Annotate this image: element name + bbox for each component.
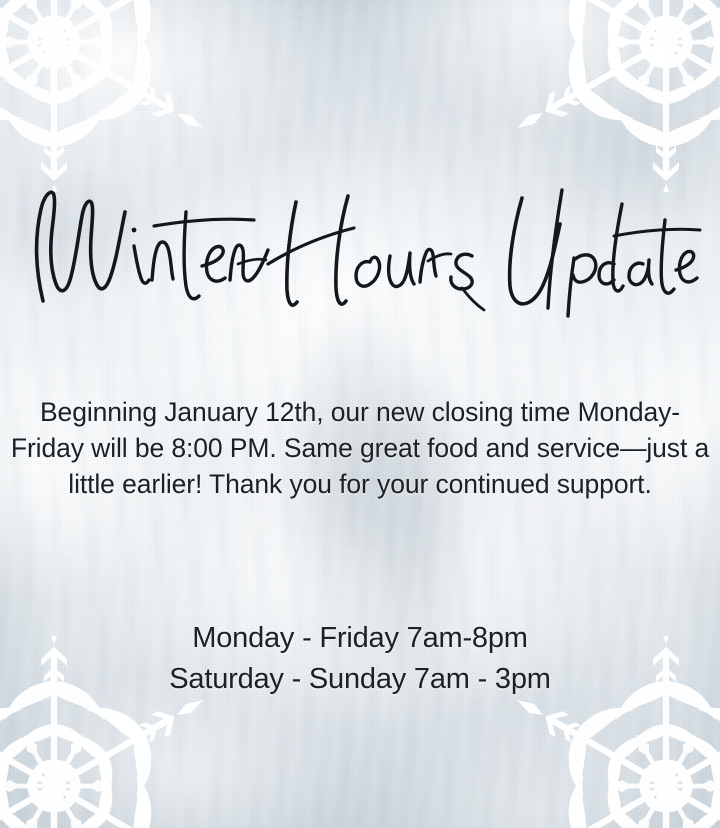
hours-line-weekend: Saturday - Sunday 7am - 3pm bbox=[0, 659, 720, 700]
hours-line-weekday: Monday - Friday 7am-8pm bbox=[0, 618, 720, 659]
announcement-paragraph-text: Beginning January 12th, our new closing … bbox=[11, 397, 709, 499]
hours-list: Monday - Friday 7am-8pm Saturday - Sunda… bbox=[0, 618, 720, 700]
winter-hours-poster: Winter Hours Update bbox=[0, 0, 720, 828]
page-title: Winter Hours Update bbox=[0, 168, 720, 318]
poster-content: Winter Hours Update bbox=[0, 0, 720, 828]
announcement-paragraph: Beginning January 12th, our new closing … bbox=[6, 394, 714, 502]
